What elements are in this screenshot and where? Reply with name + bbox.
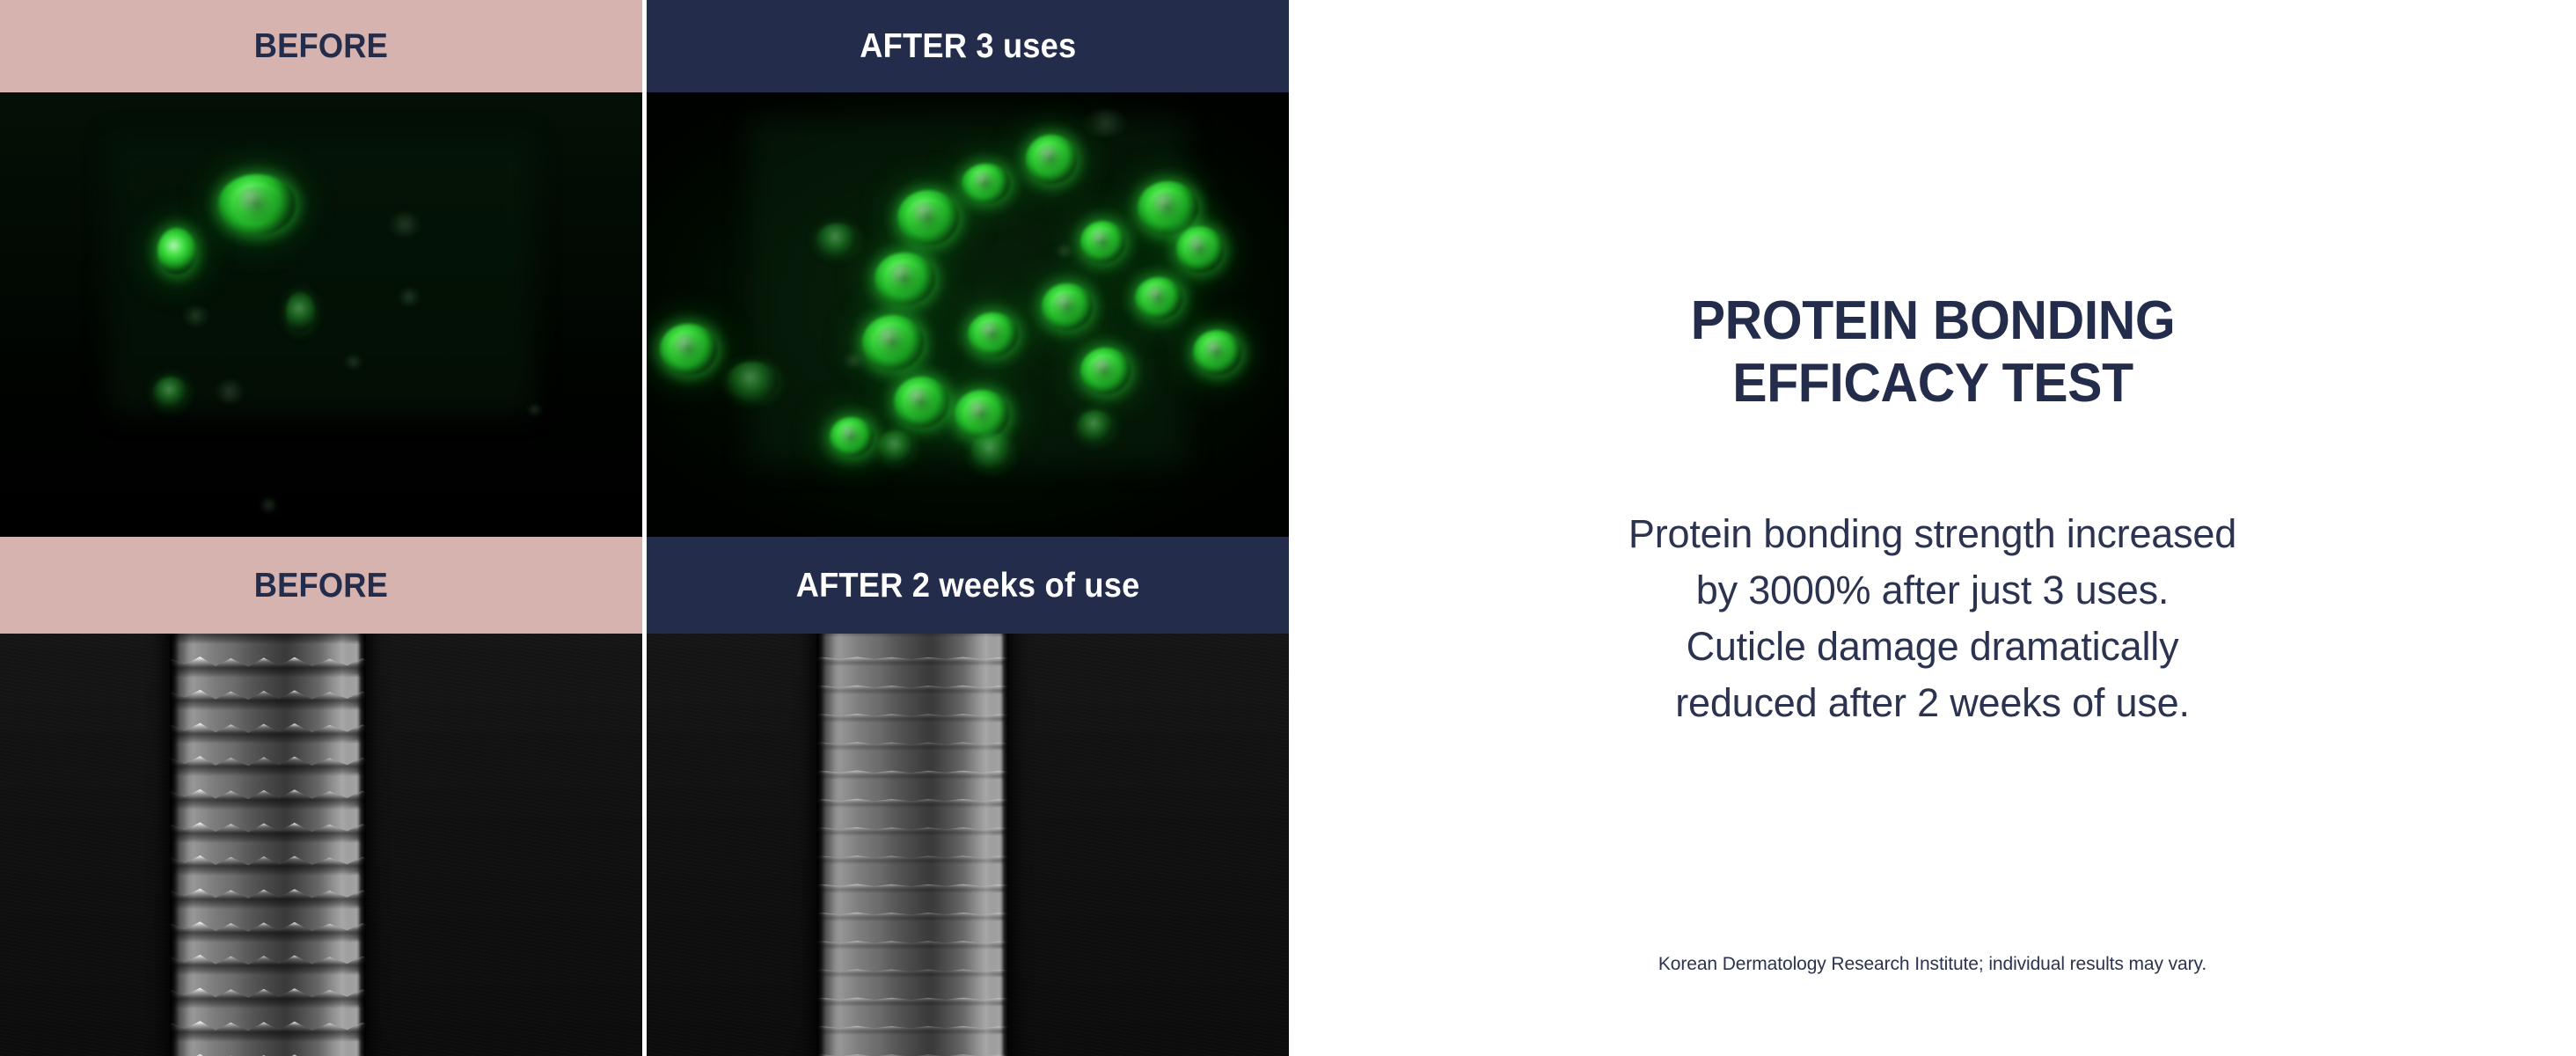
sem-comparison-row: BEFORE bbox=[0, 537, 1289, 1056]
fluorescent-cell bbox=[830, 417, 874, 457]
after-label-text: AFTER 3 uses bbox=[860, 29, 1076, 63]
hair-shaft-smooth bbox=[816, 634, 1009, 1056]
hair-shaft-sheen bbox=[170, 634, 366, 1056]
after-label-band-sem: AFTER 2 weeks of use bbox=[647, 537, 1289, 634]
fluorescent-cell bbox=[399, 288, 421, 306]
fluorescent-cell bbox=[875, 253, 935, 306]
fluorescent-cell bbox=[1026, 135, 1077, 184]
fluorescent-cell bbox=[862, 315, 924, 370]
before-label-text: BEFORE bbox=[254, 29, 388, 63]
sem-micrograph-smooth bbox=[647, 634, 1289, 1056]
fluorescent-cell bbox=[1193, 330, 1241, 375]
fluorescent-cell bbox=[183, 305, 209, 326]
fluorescent-cell bbox=[727, 362, 778, 401]
page-title: PROTEIN BONDING EFFICACY TEST bbox=[1556, 290, 2309, 414]
fluorescent-cell bbox=[218, 174, 296, 234]
fluorescent-cell bbox=[962, 164, 1010, 203]
fluorescent-cell bbox=[955, 390, 1008, 439]
fluorescent-cell bbox=[154, 377, 187, 407]
sem-before-image bbox=[0, 634, 642, 1056]
protein-bonding-efficacy-panel: BEFORE bbox=[0, 0, 2576, 1056]
fluorescent-cell bbox=[1055, 244, 1074, 258]
fluorescent-cell bbox=[260, 497, 277, 513]
fluorescent-cell-cluster bbox=[0, 92, 642, 537]
page-title-line-1: PROTEIN BONDING bbox=[1556, 290, 2309, 353]
fluorescent-cell bbox=[660, 324, 718, 375]
fluorescent-cell bbox=[1042, 283, 1093, 330]
fluorescent-cell bbox=[971, 432, 1013, 470]
fluorescence-before-cell: BEFORE bbox=[0, 0, 642, 537]
fluorescent-cell bbox=[878, 430, 914, 464]
fluorescent-cell bbox=[1080, 221, 1125, 263]
sem-micrograph-damaged bbox=[0, 634, 642, 1056]
fluorescence-before-image bbox=[0, 92, 642, 537]
fluorescence-after-cell: AFTER 3 uses bbox=[647, 0, 1289, 537]
before-label-text: BEFORE bbox=[254, 568, 388, 603]
fluorescent-cell bbox=[389, 212, 421, 236]
body-copy: Protein bonding strength increased by 30… bbox=[1511, 506, 2355, 731]
sem-before-cell: BEFORE bbox=[0, 537, 642, 1056]
sem-after-cell: AFTER 2 weeks of use bbox=[647, 537, 1289, 1056]
page-title-line-2: EFFICACY TEST bbox=[1556, 353, 2309, 415]
fluorescent-cell bbox=[1077, 410, 1114, 443]
fluorescent-cell bbox=[1176, 226, 1224, 273]
disclaimer-footnote: Korean Dermatology Research Institute; i… bbox=[1449, 952, 2417, 976]
body-copy-line-1: Protein bonding strength increased bbox=[1511, 506, 2355, 562]
body-copy-line-4: reduced after 2 weeks of use. bbox=[1511, 675, 2355, 731]
fluorescence-after-image bbox=[647, 92, 1289, 537]
fluorescent-cell bbox=[968, 312, 1018, 357]
fluorescent-cell bbox=[1135, 277, 1182, 319]
fluorescent-cell bbox=[1080, 348, 1131, 394]
fluorescent-cell bbox=[843, 352, 865, 368]
fluorescent-cell bbox=[216, 379, 244, 404]
sem-after-image bbox=[647, 634, 1289, 1056]
body-copy-line-3: Cuticle damage dramatically bbox=[1511, 619, 2355, 675]
before-label-band-fluorescence: BEFORE bbox=[0, 0, 642, 92]
before-label-band-sem: BEFORE bbox=[0, 537, 642, 634]
fluorescent-cell bbox=[894, 377, 949, 428]
text-panel: PROTEIN BONDING EFFICACY TEST Protein bo… bbox=[1289, 0, 2576, 1056]
after-label-text: AFTER 2 weeks of use bbox=[796, 568, 1140, 603]
fluorescent-cell-cluster bbox=[647, 92, 1289, 537]
body-copy-line-2: by 3000% after just 3 uses. bbox=[1511, 562, 2355, 619]
fluorescence-micrograph-dense bbox=[647, 92, 1289, 537]
fluorescent-cell bbox=[897, 190, 959, 246]
fluorescent-cell bbox=[1138, 181, 1198, 235]
hair-shaft-sheen bbox=[816, 634, 1009, 1056]
fluorescent-cell bbox=[816, 224, 858, 256]
after-label-band-fluorescence: AFTER 3 uses bbox=[647, 0, 1289, 92]
fluorescence-comparison-row: BEFORE bbox=[0, 0, 1289, 537]
before-after-comparison-grid: BEFORE bbox=[0, 0, 1289, 1056]
fluorescent-cell bbox=[157, 228, 196, 275]
hair-shaft-damaged bbox=[170, 634, 366, 1056]
fluorescent-cell bbox=[344, 355, 363, 369]
fluorescent-cell bbox=[1083, 110, 1128, 136]
fluorescent-cell bbox=[286, 292, 316, 332]
fluorescence-micrograph-sparse bbox=[0, 92, 642, 537]
fluorescent-cell bbox=[527, 404, 543, 415]
